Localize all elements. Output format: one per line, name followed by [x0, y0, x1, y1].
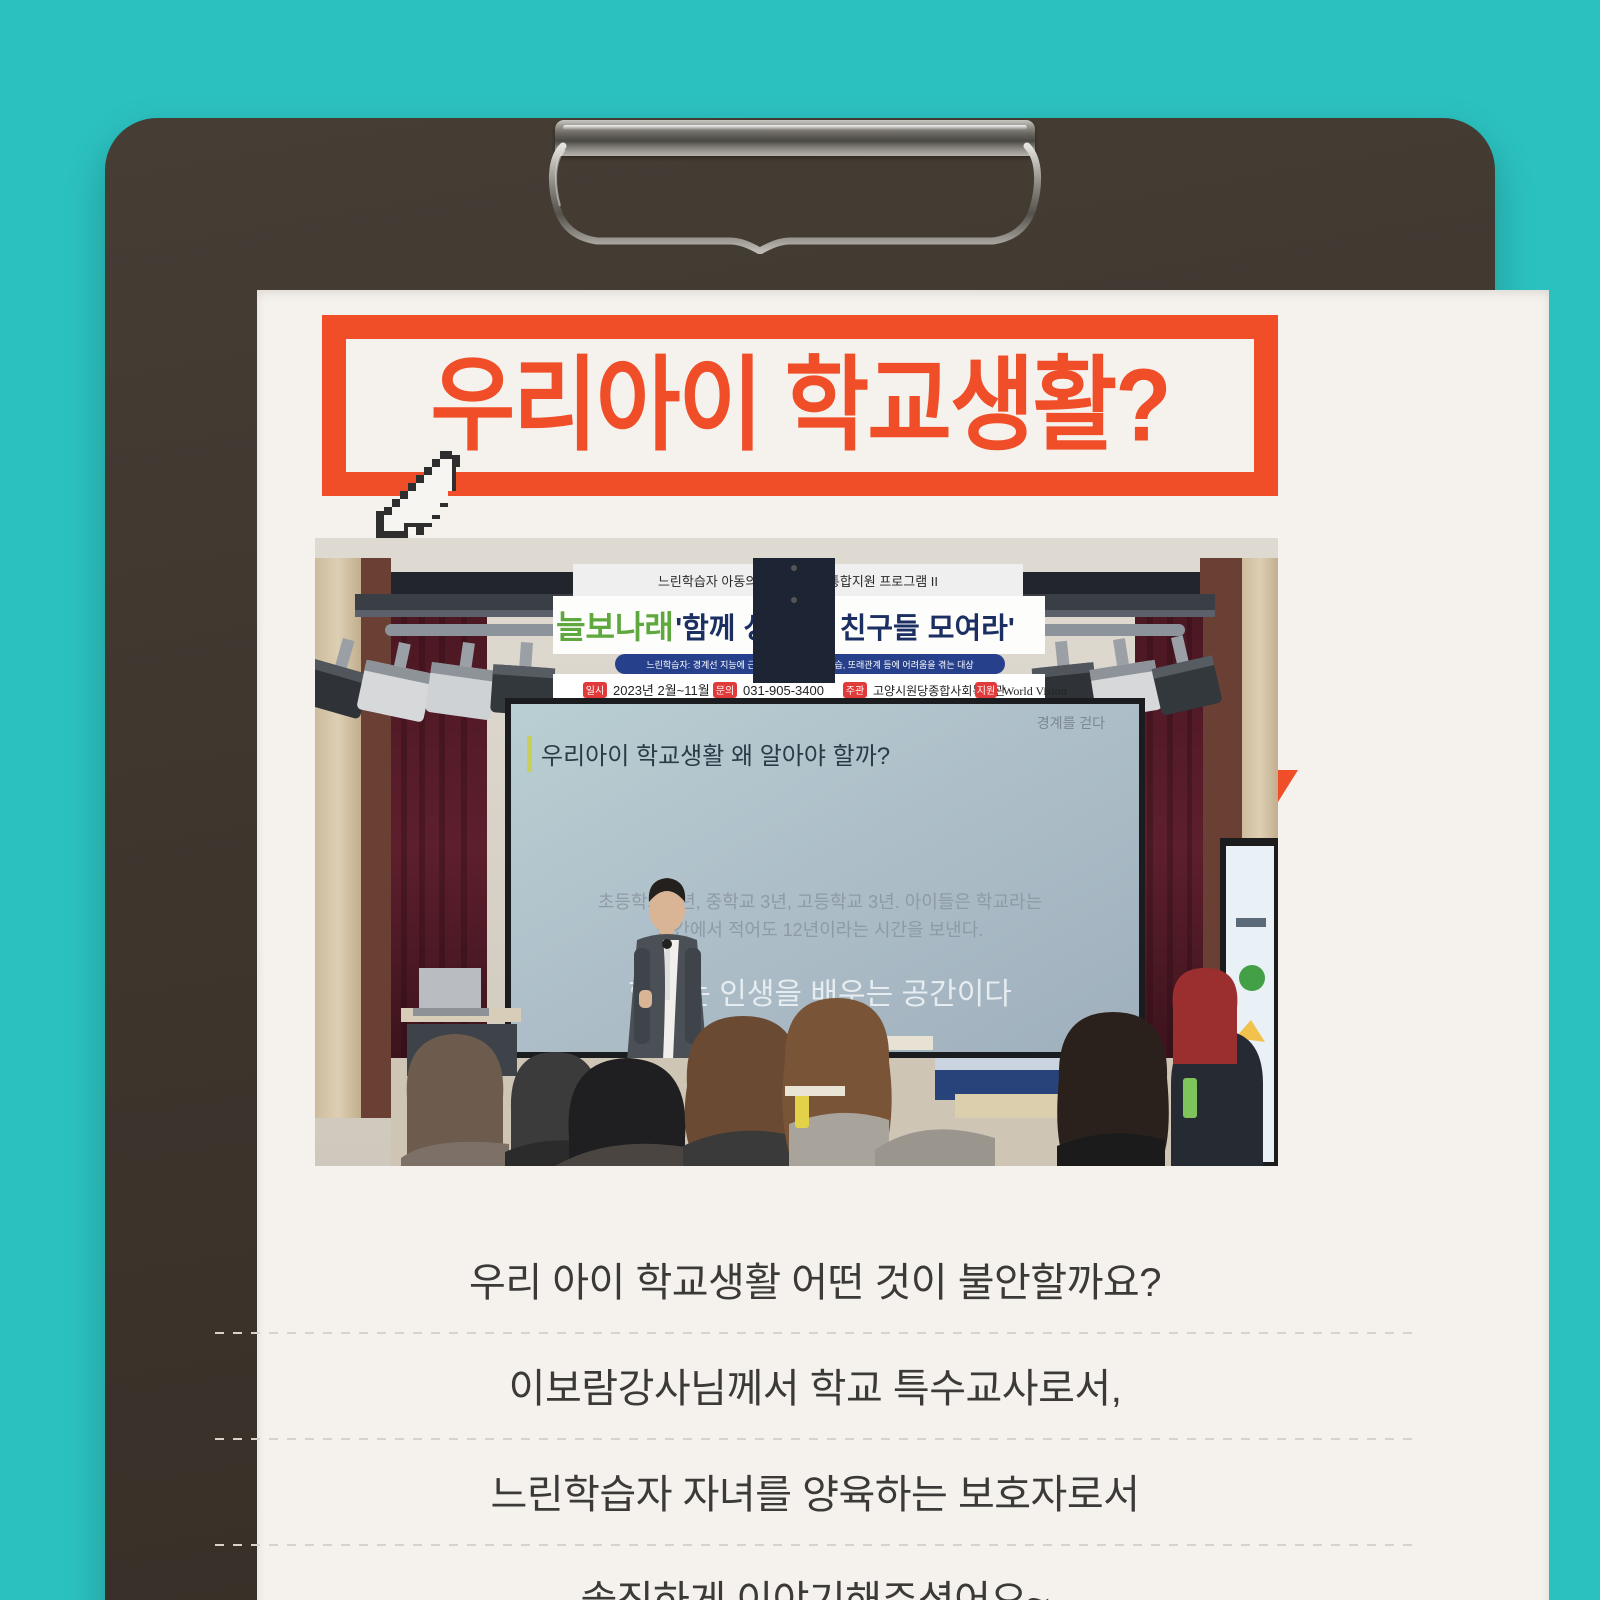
title-inner-frame: 우리아이 학교생활? — [340, 333, 1260, 478]
slide-body-line2: 공간에서 적어도 12년이라는 시간을 보낸다. — [657, 920, 984, 940]
caption-line-3: 느린학습자 자녀를 양육하는 보호자로서 — [215, 1440, 1415, 1544]
title-box: 우리아이 학교생활? — [322, 315, 1278, 496]
caption-line-4: 솔직하게 이야기해주셨어요~ — [215, 1546, 1415, 1600]
caption-line-1: 우리 아이 학교생활 어떤 것이 불안할까요? — [215, 1228, 1415, 1332]
slide-heading: 우리아이 학교생활 왜 알아야 할까? — [541, 743, 890, 770]
page-title: 우리아이 학교생활? — [431, 354, 1170, 457]
banner-meta-label-0: 일시 — [586, 685, 604, 697]
banner-meta-label-1: 문의 — [716, 685, 734, 697]
banner-program-name: 늘보나래 — [556, 609, 674, 645]
poster-canvas: 우리아이 학교생활? — [0, 0, 1600, 1600]
banner-meta-label-2: 주관 — [846, 685, 864, 697]
clip-wire-icon — [545, 142, 1045, 254]
banner-meta-value-3: World Vision — [1003, 684, 1067, 698]
banner-slogan: '함께 성장 할 친구들 모여라' — [675, 612, 1015, 645]
caption-line-2: 이보람강사님께서 학교 특수교사로서, — [215, 1334, 1415, 1438]
pixel-arrow-cursor-icon — [360, 447, 464, 543]
caption-block: 우리 아이 학교생활 어떤 것이 불안할까요? 이보람강사님께서 학교 특수교사… — [215, 1228, 1415, 1600]
lecture-hall-photo: 느린학습자 아동의 사회성 향상 통합지원 프로그램 II 늘보나래 '함께 성… — [315, 538, 1278, 1166]
banner-meta-label-3: 지원 — [977, 685, 995, 697]
slide-corner-mark: 경계를 걷다 — [1037, 715, 1105, 731]
clipboard-clip[interactable] — [545, 112, 1045, 262]
banner-meta-value-1: 031-905-3400 — [743, 683, 824, 698]
banner-meta-value-0: 2023년 2월~11월 — [613, 683, 710, 698]
